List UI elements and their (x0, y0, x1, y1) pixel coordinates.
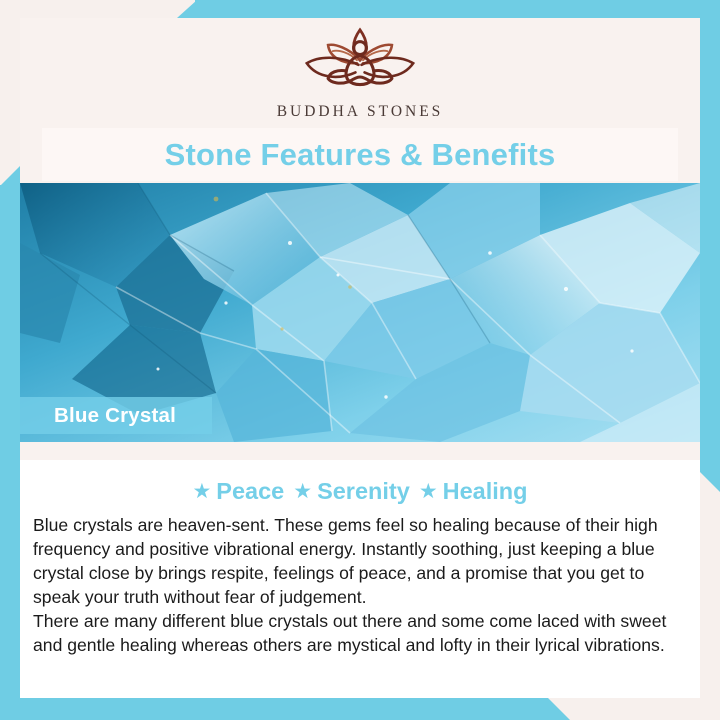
decor-band-right (700, 0, 720, 472)
photo-caption-banner: Blue Crystal (20, 397, 212, 434)
benefit-item: ★ Healing (419, 478, 528, 505)
decor-band-left-diagonal (0, 166, 20, 186)
lotus-meditation-icon (284, 22, 436, 100)
benefit-item: ★ Peace (192, 478, 284, 505)
inner-page: BUDDHA STONES Stone Features & Benefits (20, 18, 700, 698)
star-icon: ★ (192, 481, 211, 502)
decor-band-right-diagonal (700, 472, 720, 492)
brand-name: BUDDHA STONES (277, 103, 444, 121)
poster-root: BUDDHA STONES Stone Features & Benefits (0, 0, 720, 720)
benefits-row: ★ Peace ★ Serenity ★ Healing (20, 460, 700, 505)
star-icon: ★ (419, 481, 438, 502)
title-banner: Stone Features & Benefits (42, 128, 678, 181)
photo-caption: Blue Crystal (54, 404, 176, 428)
benefit-item: ★ Serenity (293, 478, 410, 505)
benefit-label: Peace (216, 478, 284, 505)
decor-band-bottom-diagonal (548, 698, 570, 720)
decor-band-left (0, 185, 20, 720)
decor-band-bottom (0, 698, 548, 720)
content-area: ★ Peace ★ Serenity ★ Healing Blue crysta… (20, 460, 700, 698)
benefit-label: Serenity (317, 478, 410, 505)
description-paragraph-1: Blue crystals are heaven-sent. These gem… (33, 514, 687, 610)
description-paragraph-2: There are many different blue crystals o… (33, 610, 687, 658)
brand-logo: BUDDHA STONES (20, 22, 700, 121)
page-title: Stone Features & Benefits (165, 137, 556, 173)
description-text: Blue crystals are heaven-sent. These gem… (20, 505, 700, 658)
benefit-label: Healing (443, 478, 528, 505)
star-icon: ★ (293, 481, 312, 502)
crystal-photo: Blue Crystal (20, 183, 700, 442)
decor-band-top-diagonal (177, 0, 197, 18)
decor-band-top (195, 0, 720, 18)
